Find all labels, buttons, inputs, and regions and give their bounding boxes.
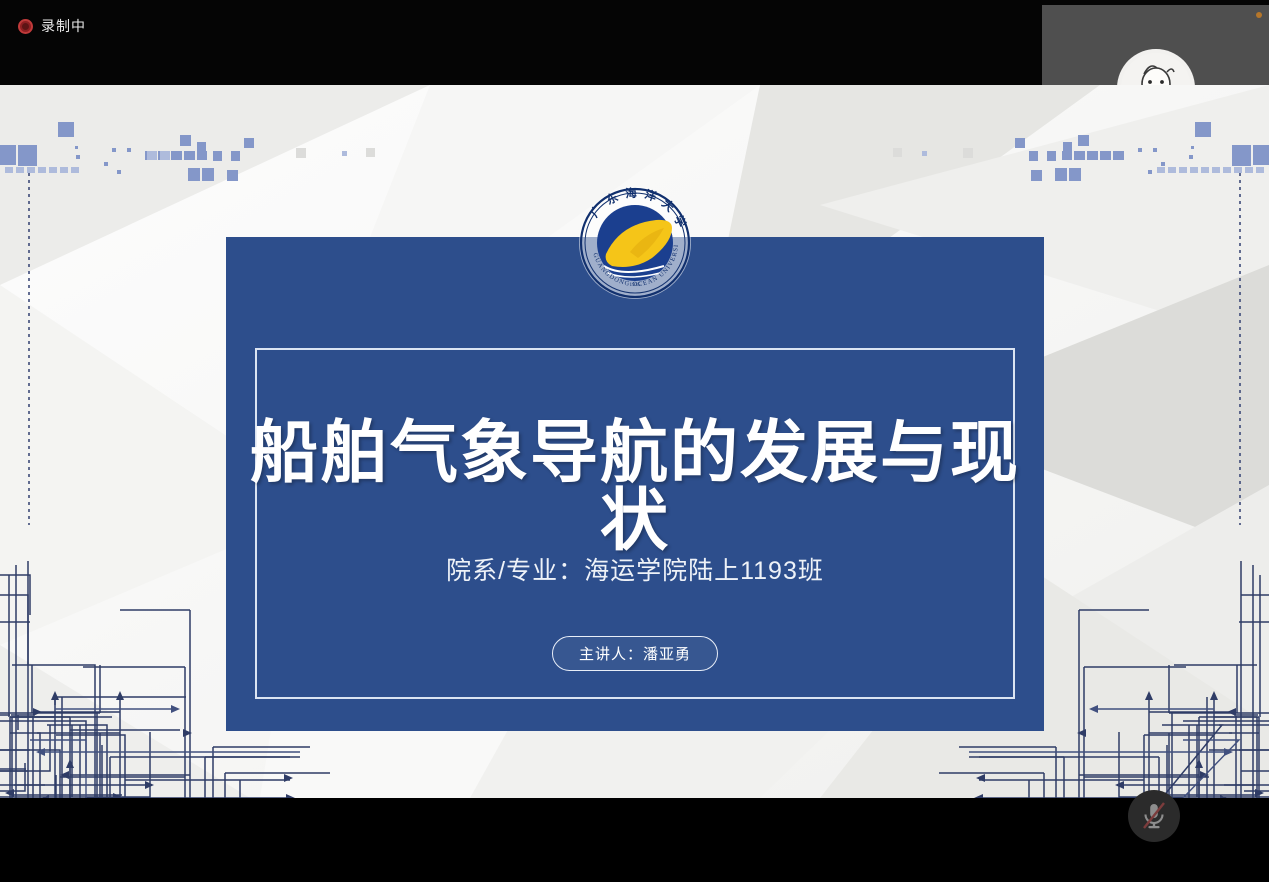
slide-title-card: 船舶气象导航的发展与现状 院系/专业：海运学院陆上1193班 主讲人：潘亚勇 xyxy=(226,237,1044,731)
guangdong-ocean-university-logo: 广 东 海 洋 大 学 GUANGDONG OCEAN UNIVERSITY 1… xyxy=(568,186,702,300)
presenter-badge: 主讲人：潘亚勇 xyxy=(552,636,718,671)
shared-screen-slide: 广 东 海 洋 大 学 GUANGDONG OCEAN UNIVERSITY 1… xyxy=(0,85,1269,798)
mute-toggle-button[interactable] xyxy=(1128,790,1180,842)
recording-indicator: 录制中 xyxy=(18,19,86,34)
bottom-letterbox-band xyxy=(0,798,1269,882)
meeting-window: 录制中 xyxy=(0,0,1269,882)
slide-main-title: 船舶气象导航的发展与现状 xyxy=(226,419,1044,555)
recording-dot-icon xyxy=(18,19,33,34)
slide-subtitle: 院系/专业：海运学院陆上1193班 xyxy=(226,551,1044,587)
recording-label: 录制中 xyxy=(41,19,86,34)
microphone-muted-icon xyxy=(1140,801,1168,831)
status-dot-icon xyxy=(1256,12,1262,18)
svg-text:1935: 1935 xyxy=(629,282,640,288)
